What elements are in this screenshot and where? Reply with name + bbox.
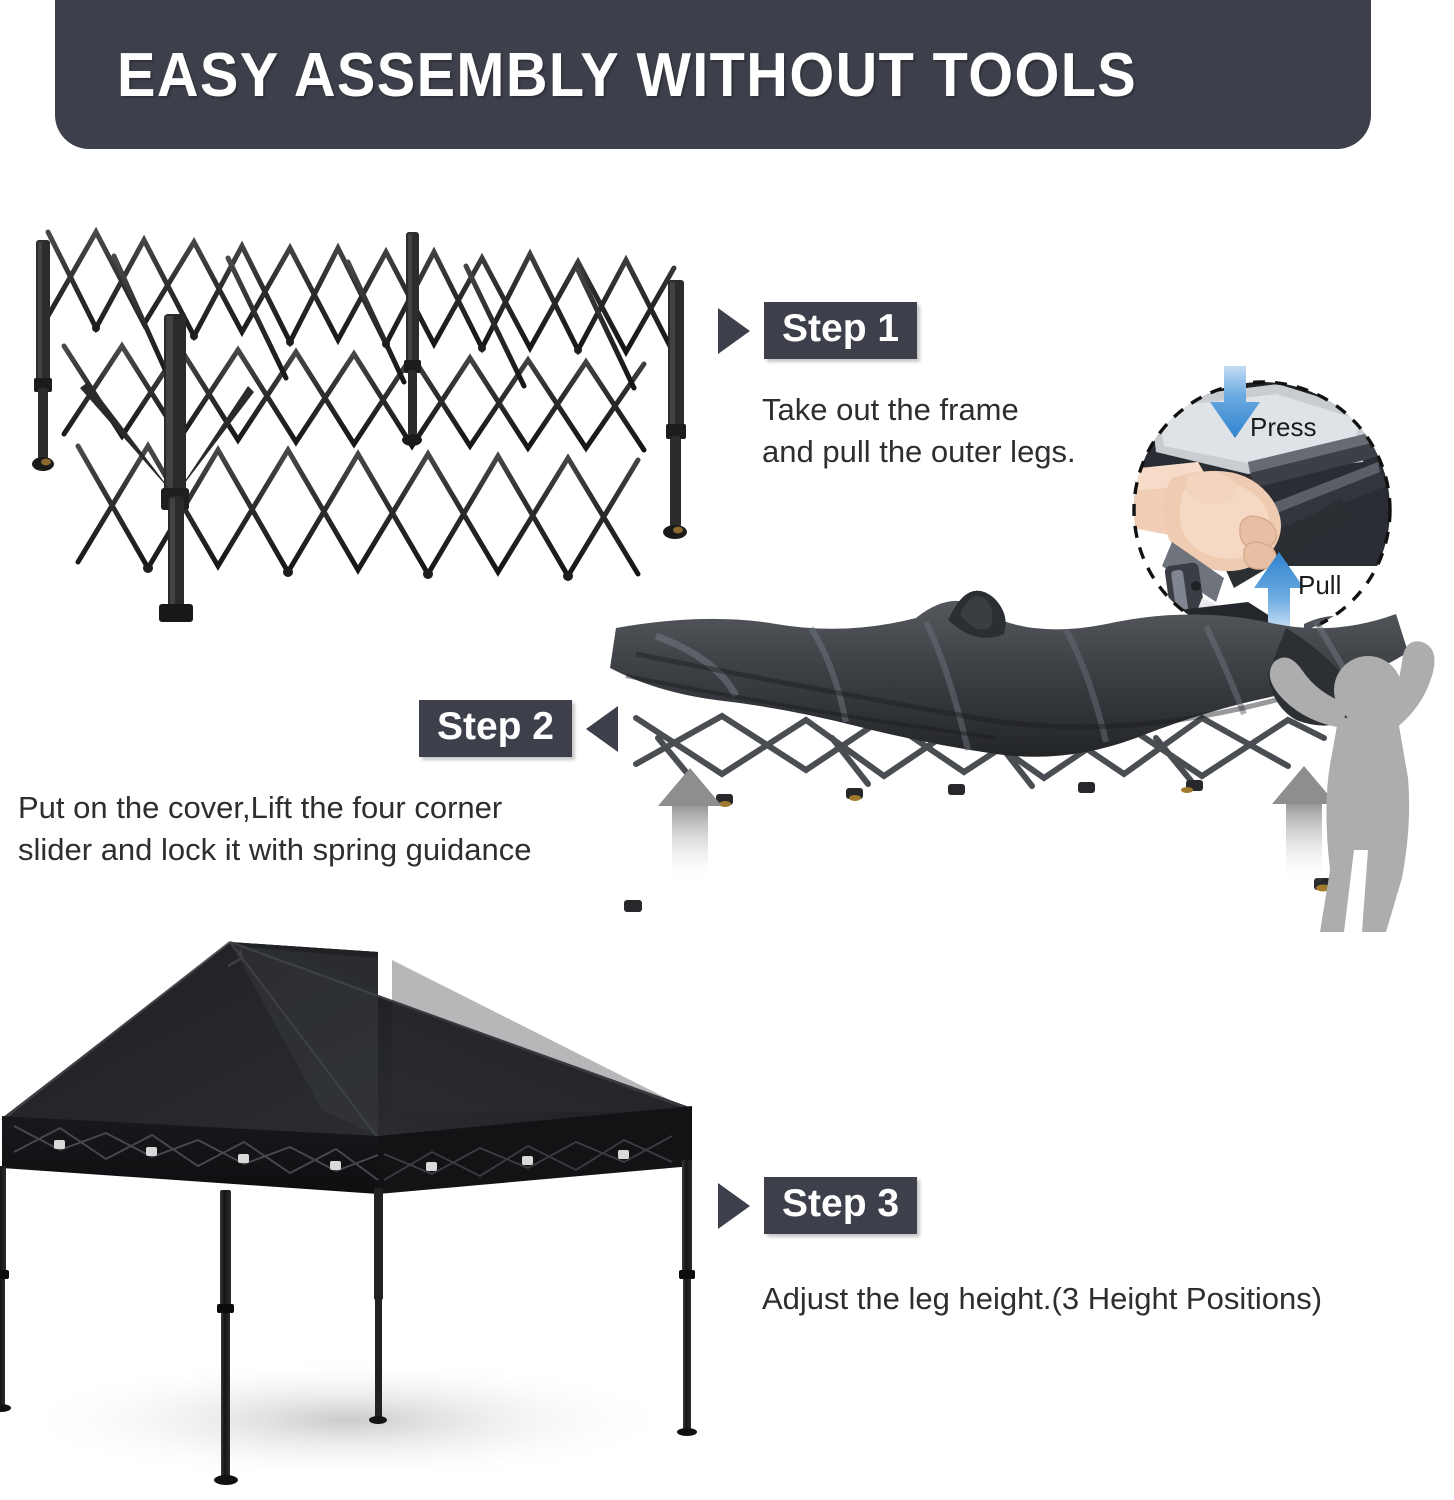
step-3-header: Step 3: [718, 1177, 1322, 1234]
step-2-block: Step 2 Put on the cover,Lift the four co…: [18, 700, 618, 870]
step-1-block: Step 1 Take out the frame and pull the o…: [718, 302, 1076, 472]
lift-arrow-left: [658, 768, 722, 884]
folded-frame-illustration: [18, 196, 718, 644]
assembled-canopy-illustration: [0, 900, 752, 1500]
step-1-header: Step 1: [718, 302, 1076, 359]
step-2-header: Step 2: [18, 700, 618, 757]
press-label: Press: [1250, 412, 1316, 442]
triangle-right-icon: [718, 308, 750, 354]
step-3-description: Adjust the leg height.(3 Height Position…: [762, 1278, 1322, 1320]
step-3-block: Step 3 Adjust the leg height.(3 Height P…: [718, 1177, 1322, 1320]
step-3-label: Step 3: [764, 1177, 917, 1234]
triangle-left-icon: [586, 706, 618, 752]
page-title: EASY ASSEMBLY WITHOUT TOOLS: [117, 45, 1137, 107]
step-2-label: Step 2: [419, 700, 572, 757]
step-2-description: Put on the cover,Lift the four corner sl…: [18, 787, 618, 870]
step-2-illustration: [596, 588, 1454, 940]
triangle-right-icon: [718, 1183, 750, 1229]
header-banner: EASY ASSEMBLY WITHOUT TOOLS: [55, 0, 1371, 149]
infographic-page: EASY ASSEMBLY WITHOUT TOOLS: [0, 0, 1454, 1500]
step-1-description: Take out the frame and pull the outer le…: [762, 389, 1076, 472]
step-1-label: Step 1: [764, 302, 917, 359]
